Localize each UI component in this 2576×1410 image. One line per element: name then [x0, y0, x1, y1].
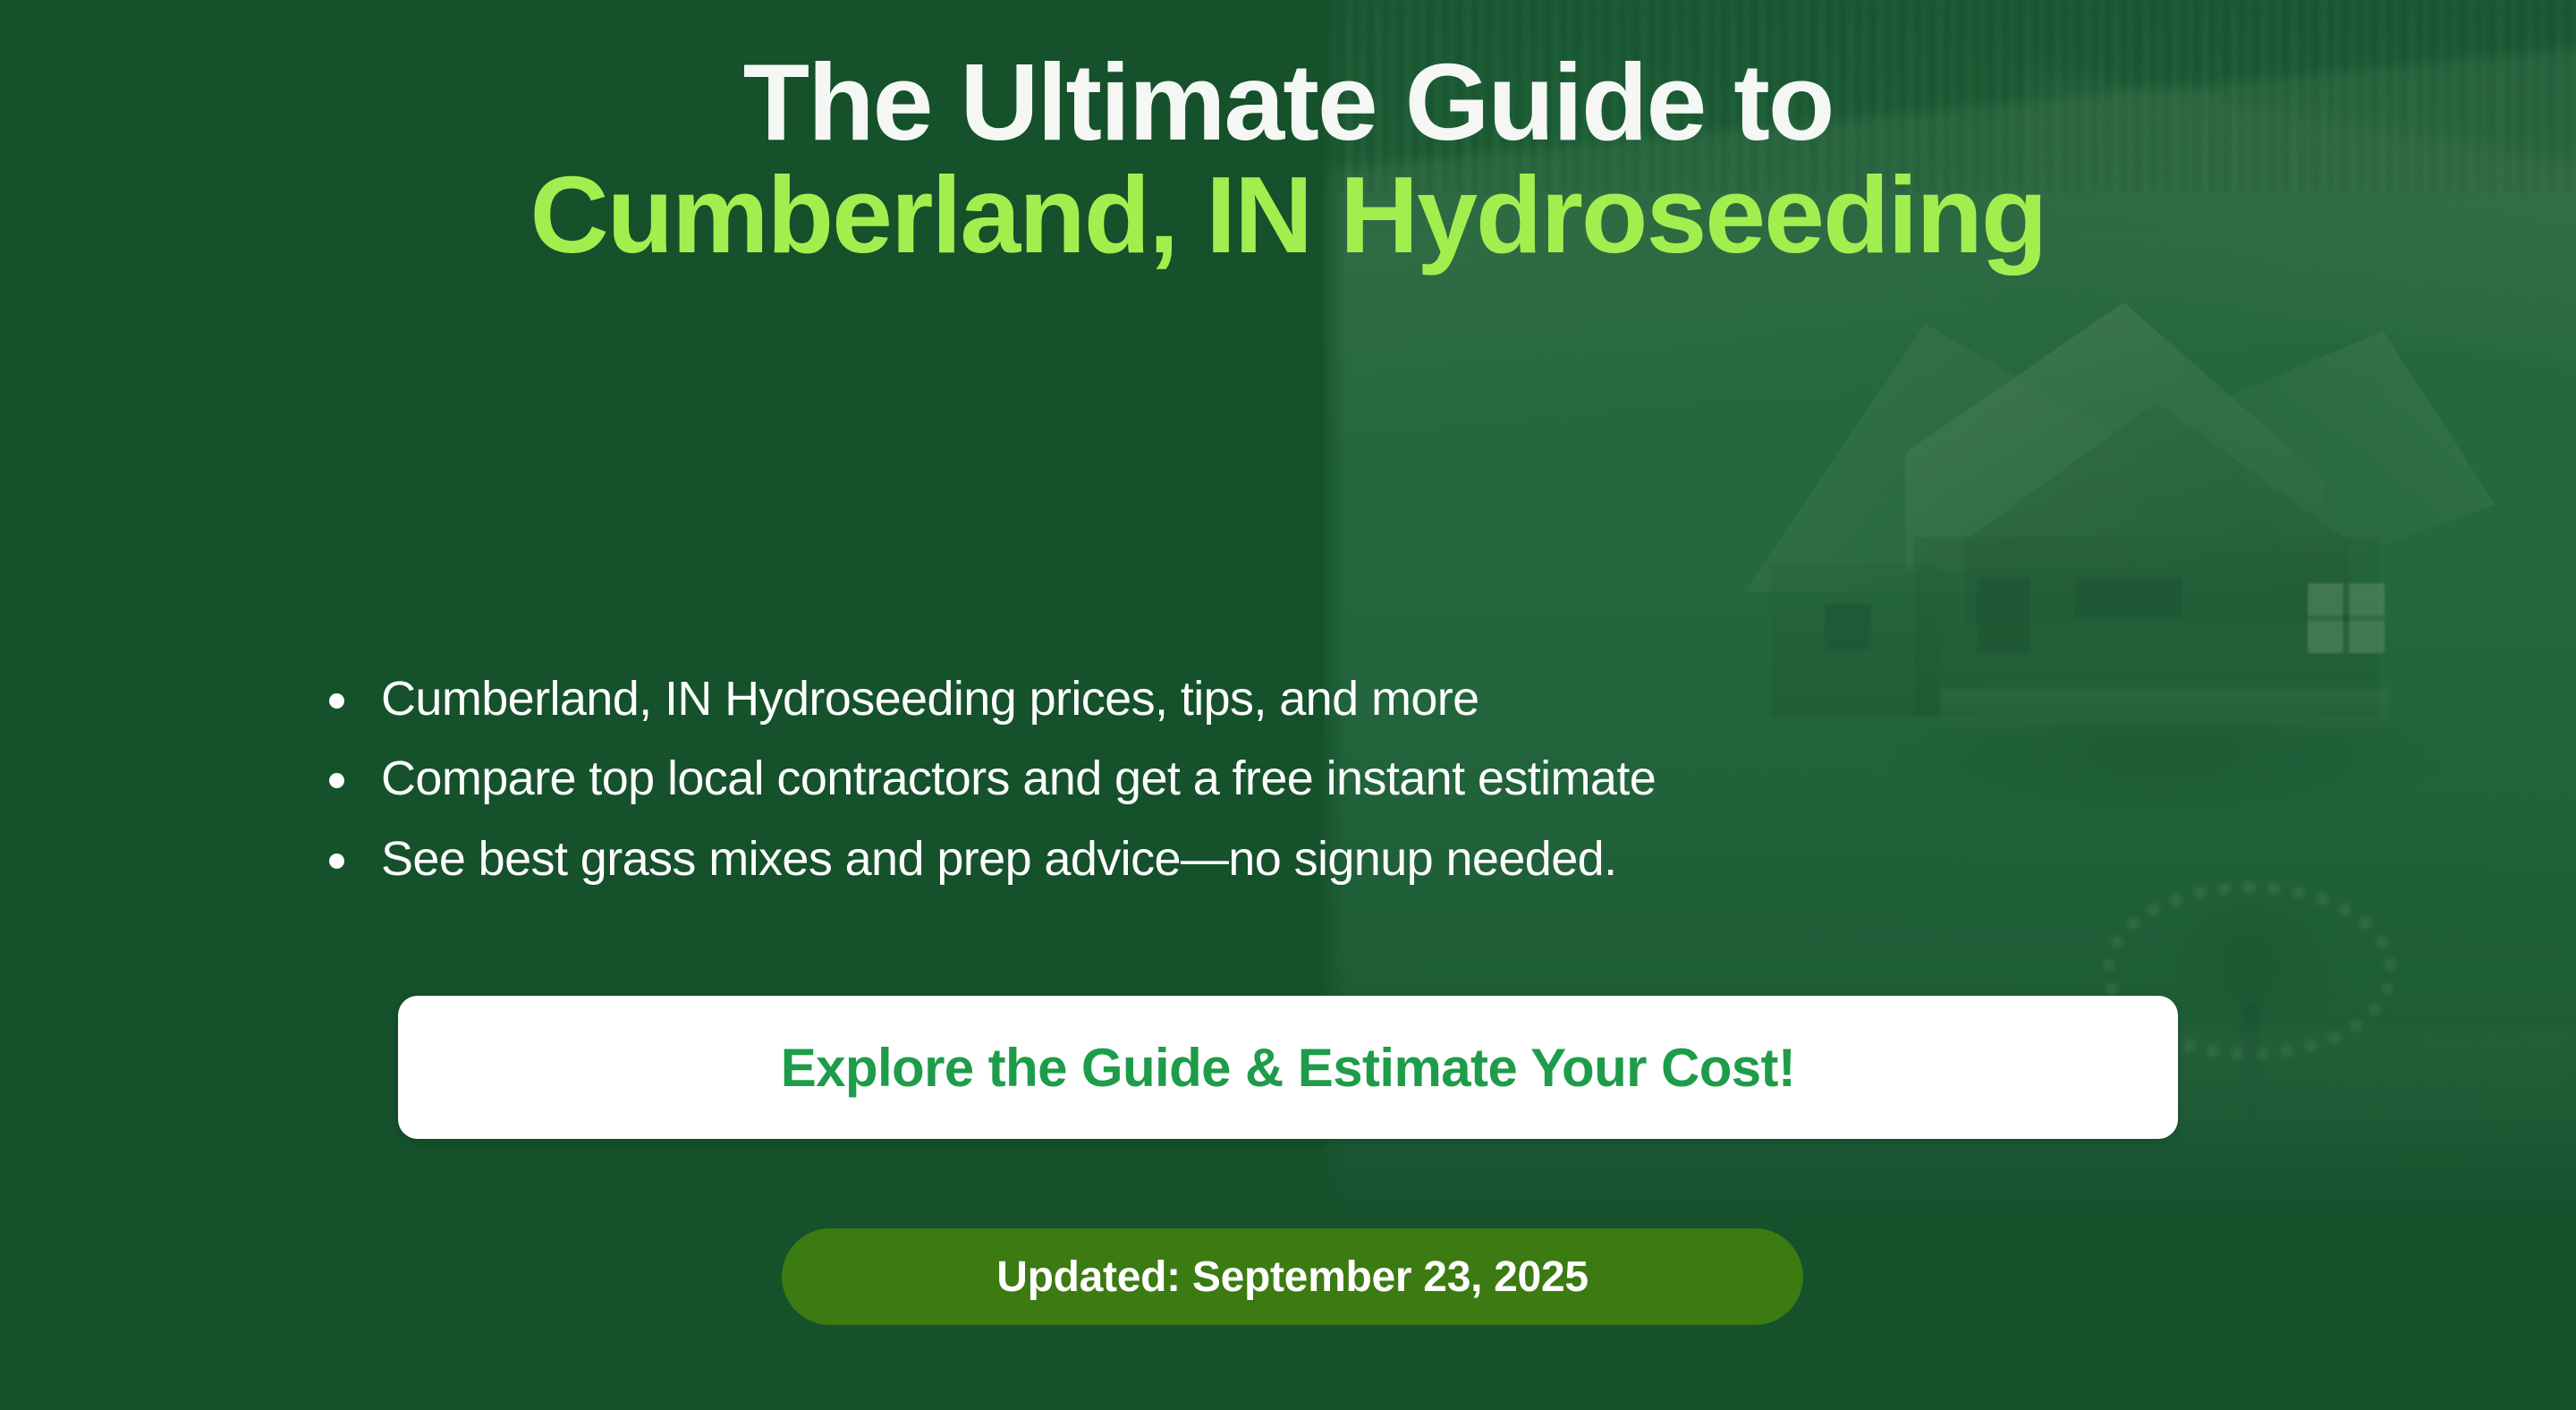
- hero-banner: The Ultimate Guide to Cumberland, IN Hyd…: [0, 0, 2576, 1410]
- list-item: Cumberland, IN Hydroseeding prices, tips…: [304, 673, 2272, 725]
- headline-line-accent: Cumberland, IN Hydroseeding: [179, 159, 2397, 272]
- list-item: Compare top local contractors and get a …: [304, 752, 2272, 804]
- explore-guide-cta-button[interactable]: Explore the Guide & Estimate Your Cost!: [398, 996, 2178, 1139]
- benefit-list: Cumberland, IN Hydroseeding prices, tips…: [304, 673, 2272, 913]
- headline-line-primary: The Ultimate Guide to: [743, 41, 1834, 163]
- banner-content: The Ultimate Guide to Cumberland, IN Hyd…: [0, 0, 2576, 1410]
- last-updated-badge: Updated: September 23, 2025: [782, 1228, 1803, 1325]
- list-item: See best grass mixes and prep advice—no …: [304, 833, 2272, 885]
- page-title: The Ultimate Guide to Cumberland, IN Hyd…: [0, 47, 2576, 271]
